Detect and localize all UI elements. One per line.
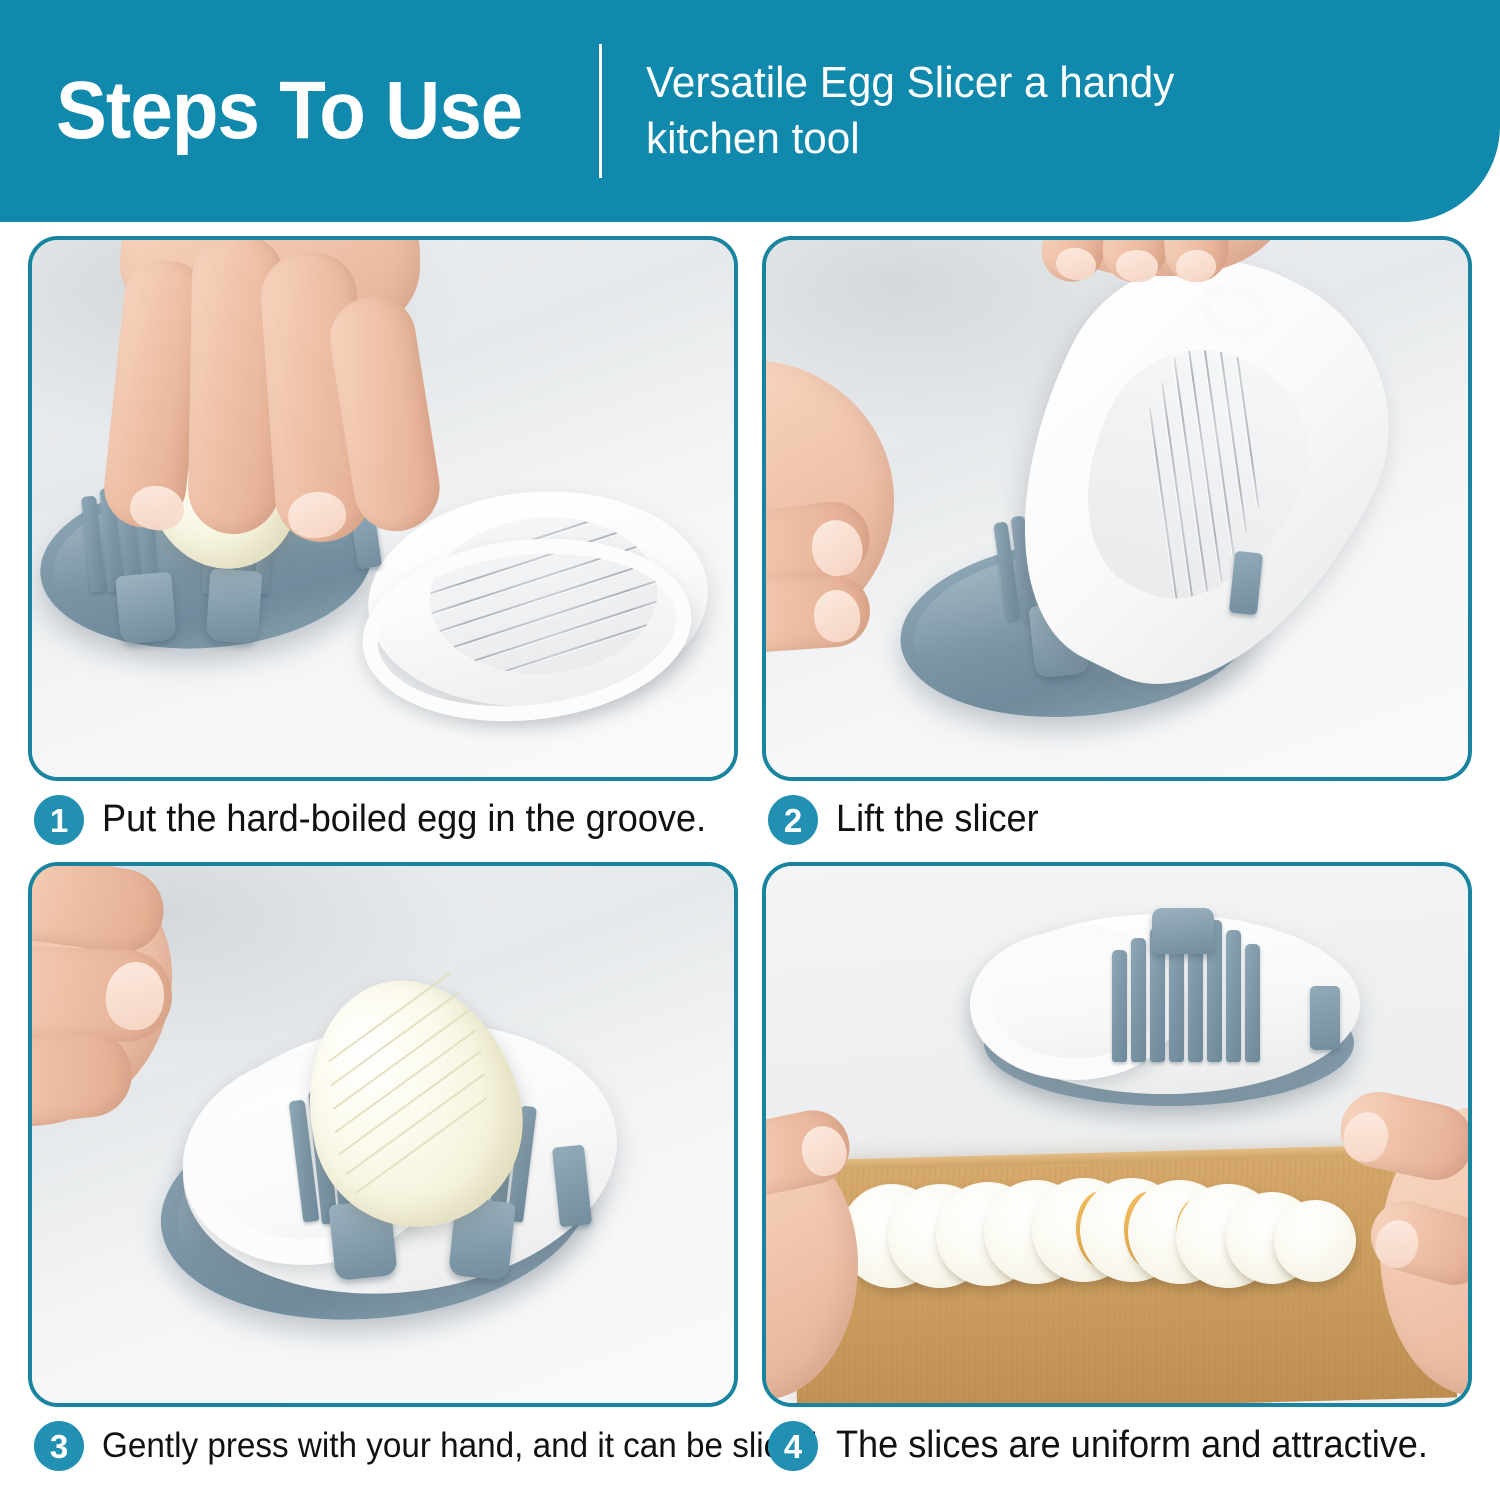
- header-banner: Steps To Use Versatile Egg Slicer a hand…: [0, 0, 1500, 222]
- header-divider: [599, 44, 602, 178]
- step-2-caption-text: Lift the slicer: [836, 800, 1039, 840]
- step-1-photo: [28, 236, 738, 781]
- step-2-photo: [762, 236, 1472, 781]
- step-3-caption: 3 Gently press with your hand, and it ca…: [28, 1407, 738, 1485]
- hand-steadying-base: [762, 350, 992, 690]
- step-4-photo: [762, 862, 1472, 1407]
- step-1-caption-text: Put the hard-boiled egg in the groove.: [102, 800, 706, 840]
- step-card-3: 3 Gently press with your hand, and it ca…: [28, 862, 738, 1485]
- step-badge-3: 3: [34, 1421, 84, 1471]
- page-title: Steps To Use: [56, 70, 522, 152]
- step-4-caption-text: The slices are uniform and attractive.: [836, 1426, 1428, 1466]
- step-card-1: 1 Put the hard-boiled egg in the groove.: [28, 236, 738, 859]
- infographic-page: Steps To Use Versatile Egg Slicer a hand…: [0, 0, 1500, 1487]
- step-badge-1: 1: [34, 795, 84, 845]
- step-badge-2: 2: [768, 795, 818, 845]
- step-3-caption-text: Gently press with your hand, and it can …: [102, 1428, 817, 1465]
- step-3-photo: [28, 862, 738, 1407]
- step-1-caption: 1 Put the hard-boiled egg in the groove.: [28, 781, 738, 859]
- steps-grid: 1 Put the hard-boiled egg in the groove.: [0, 236, 1500, 1487]
- step-card-4: 4 The slices are uniform and attractive.: [762, 862, 1472, 1485]
- step-2-caption: 2 Lift the slicer: [762, 781, 1472, 859]
- step-4-caption: 4 The slices are uniform and attractive.: [762, 1407, 1472, 1485]
- hand-lifting-lid: [1012, 236, 1312, 366]
- step-card-2: 2 Lift the slicer: [762, 236, 1472, 859]
- header-subtitle: Versatile Egg Slicer a handy kitchen too…: [646, 55, 1308, 168]
- step-badge-4: 4: [768, 1421, 818, 1471]
- hand-holding-board-left: [762, 1090, 918, 1407]
- hand-pressing-lid: [28, 862, 282, 1176]
- slicer-closed-background: [958, 894, 1368, 1114]
- hand-placing-egg: [72, 236, 492, 580]
- hand-holding-board-right: [1326, 1076, 1472, 1407]
